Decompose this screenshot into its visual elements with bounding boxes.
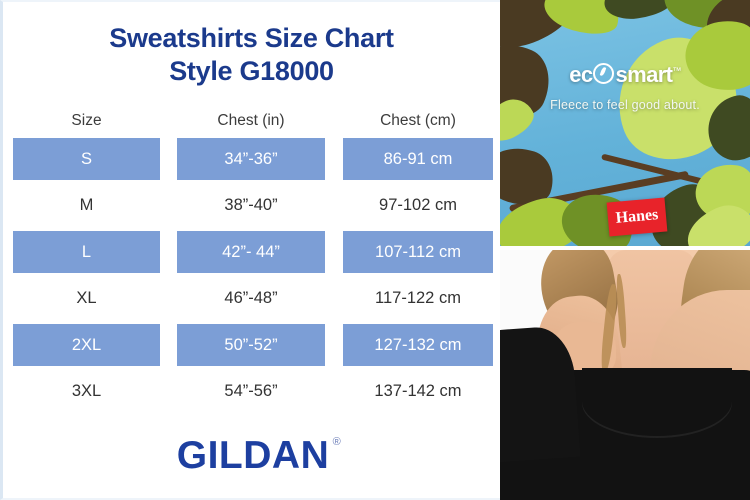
gildan-logo-wrap: GILDAN® [3, 434, 503, 478]
leaf-droplet-icon [593, 63, 614, 84]
chart-title-line-1: Sweatshirts Size Chart [3, 22, 500, 55]
cell-chest-cm: 127-132 cm [343, 324, 493, 366]
cell-chest-in: 46”-48” [177, 278, 325, 320]
table-row: L 42”- 44” 107-112 cm [3, 229, 503, 276]
column-header-chest-in: Chest (in) [177, 112, 325, 130]
ecosmart-logo-suffix: smart [615, 62, 672, 87]
table-row: XL 46”-48” 117-122 cm [3, 276, 503, 323]
gildan-wordmark: GILDAN [177, 434, 330, 477]
cell-size: 3XL [13, 371, 160, 413]
trademark-icon: ™ [672, 66, 680, 76]
chart-title-line-2: Style G18000 [3, 55, 500, 88]
cell-size: XL [13, 278, 160, 320]
cell-chest-in: 42”- 44” [177, 231, 325, 273]
ecosmart-tagline: Fleece to feel good about. [500, 98, 750, 112]
cell-chest-cm: 86-91 cm [343, 138, 493, 180]
ecosmart-logo-prefix: ec [569, 62, 592, 87]
table-row: S 34”-36” 86-91 cm [3, 136, 503, 183]
cell-size: S [13, 138, 160, 180]
imagery-panel: ecsmart™ Fleece to feel good about. Hane… [500, 0, 750, 500]
cell-chest-cm: 137-142 cm [343, 371, 493, 413]
cell-chest-cm: 97-102 cm [343, 185, 493, 227]
table-row: 3XL 54”-56” 137-142 cm [3, 369, 503, 416]
ecosmart-logo: ecsmart™ [500, 62, 750, 88]
table-row: 2XL 50”-52” 127-132 cm [3, 322, 503, 369]
cell-chest-in: 50”-52” [177, 324, 325, 366]
column-header-chest-cm: Chest (cm) [343, 112, 493, 130]
cell-chest-cm: 107-112 cm [343, 231, 493, 273]
chart-title-block: Sweatshirts Size Chart Style G18000 [3, 2, 500, 88]
cell-size: M [13, 185, 160, 227]
chart-title-style-prefix: Style [169, 56, 239, 86]
gildan-logo: GILDAN® [177, 434, 330, 478]
size-chart-page: Sweatshirts Size Chart Style G18000 Size… [0, 0, 750, 500]
garment-collar [582, 368, 732, 438]
chart-title-style-code: G18000 [239, 56, 333, 86]
size-chart-table: Size Chest (in) Chest (cm) S 34”-36” 86-… [3, 106, 503, 415]
registered-trademark-icon: ® [333, 436, 342, 448]
table-row: M 38”-40” 97-102 cm [3, 183, 503, 230]
cell-size: 2XL [13, 324, 160, 366]
column-header-size: Size [13, 112, 160, 130]
ecosmart-promo-image: ecsmart™ Fleece to feel good about. Hane… [500, 0, 750, 246]
hanes-wordmark: Hanes [615, 206, 659, 228]
model-product-photo [500, 250, 750, 500]
cell-chest-in: 34”-36” [177, 138, 325, 180]
size-chart-panel: Sweatshirts Size Chart Style G18000 Size… [0, 0, 500, 500]
cell-chest-in: 54”-56” [177, 371, 325, 413]
hanes-brand-tag: Hanes [607, 198, 668, 237]
table-header-row: Size Chest (in) Chest (cm) [3, 106, 503, 136]
cell-size: L [13, 231, 160, 273]
cell-chest-cm: 117-122 cm [343, 278, 493, 320]
cell-chest-in: 38”-40” [177, 185, 325, 227]
